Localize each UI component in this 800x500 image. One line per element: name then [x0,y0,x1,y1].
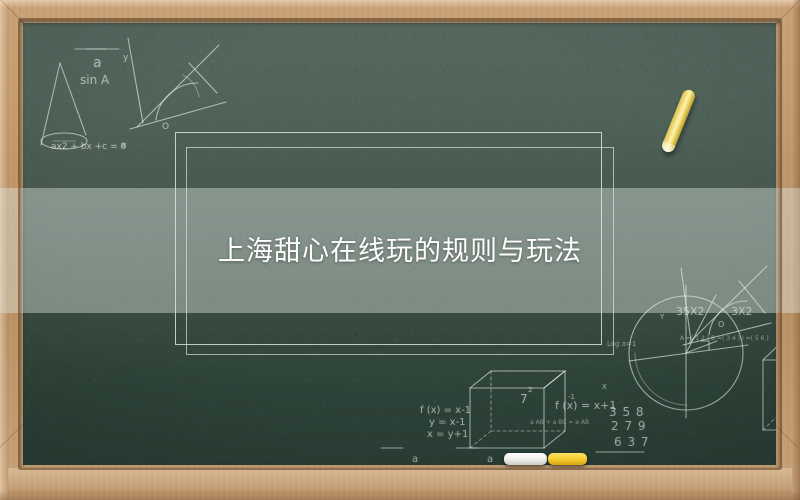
frame-bevel-top [0,0,800,8]
frame-inner-edge [20,20,780,468]
chalkboard-banner: a sin A ax2 + bx +c = 0 y x O O f (x) = … [0,0,800,500]
chalk-ledge [8,468,792,494]
